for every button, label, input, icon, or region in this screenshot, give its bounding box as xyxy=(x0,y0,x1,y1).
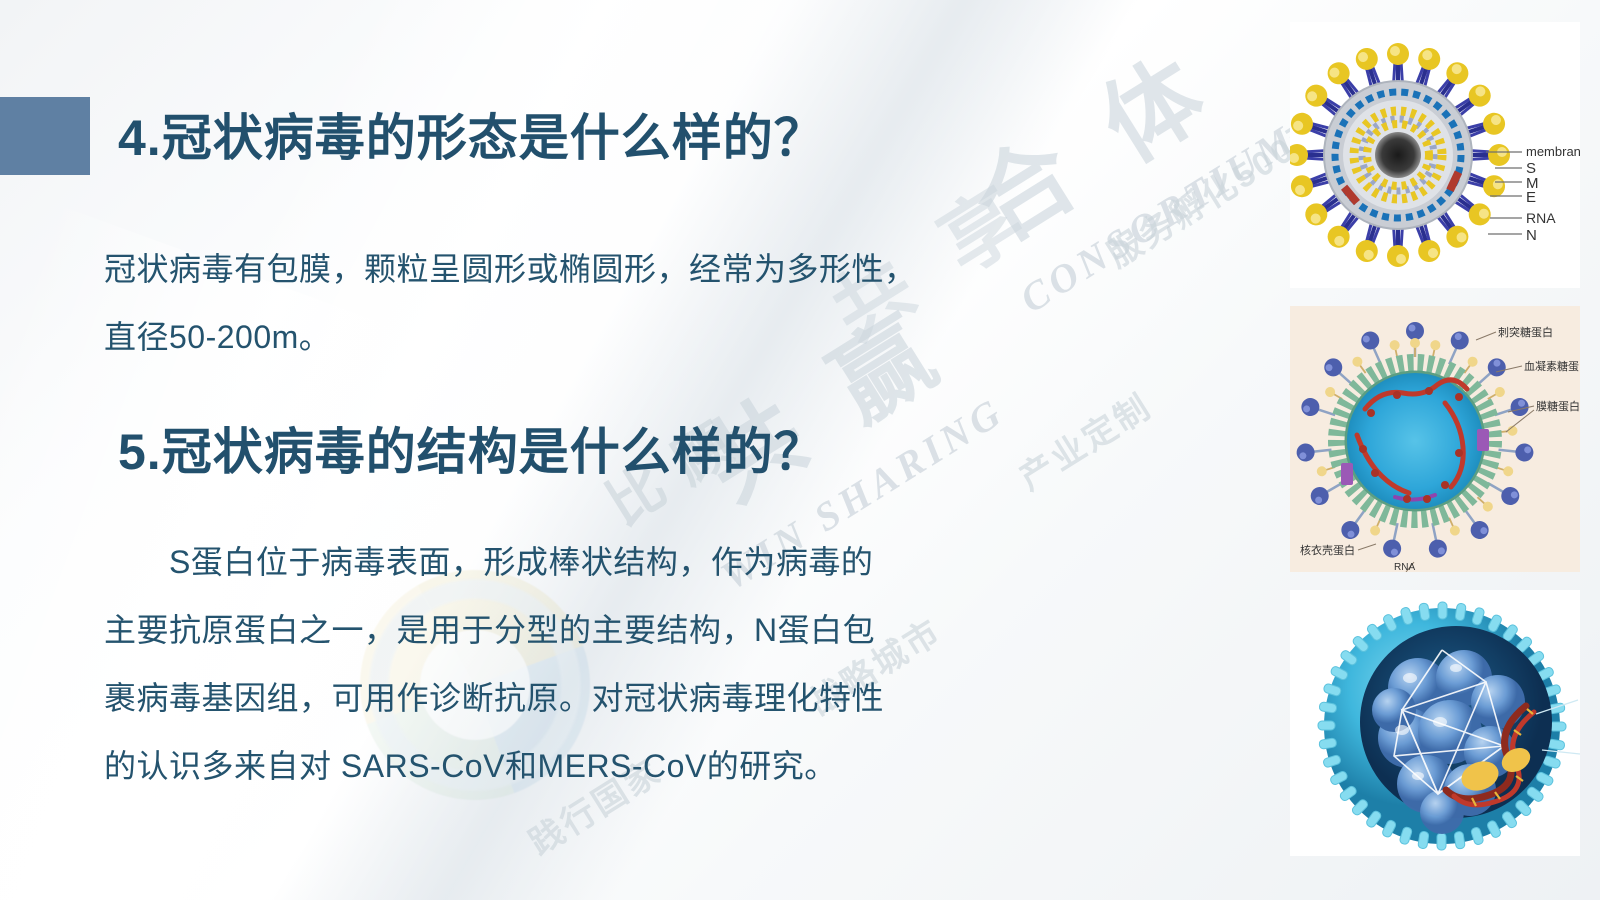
figure-label: RNA xyxy=(1526,210,1556,226)
figure-column: membrane S M E RNA N xyxy=(1290,22,1580,856)
watermark-text: 合 体 xyxy=(943,11,1238,267)
figure-label: membrane xyxy=(1526,144,1580,159)
figure-label: RNA xyxy=(1394,562,1415,572)
page-title-section-4: 4.冠状病毒的形态是什么样的？ xyxy=(118,98,825,170)
figure-label: E xyxy=(1526,189,1536,206)
paragraph-morphology: 冠状病毒有包膜，颗粒呈圆形或椭圆形，经常为多形性， 直径50-200m。 xyxy=(104,235,917,371)
figure-label: N xyxy=(1526,227,1537,244)
figure-coronavirus-cutaway: membrane S M E RNA N xyxy=(1290,22,1580,288)
figure-label: 膜糖蛋白 xyxy=(1536,399,1580,413)
figure-label: 刺突糖蛋白 xyxy=(1498,325,1553,339)
figure-virus-nucleocapsid xyxy=(1290,590,1580,856)
slide-canvas: 合 体 共 赢 共 享 CONSORTIUM WIN SHARING 服务孵化5… xyxy=(0,0,1600,900)
page-title-section-5: 5.冠状病毒的结构是什么样的？ xyxy=(118,412,825,484)
figure-label: 核衣壳蛋白 xyxy=(1300,543,1355,557)
heading-accent-block xyxy=(0,97,90,175)
figure-coronavirus-envelope: 刺突糖蛋白 血凝素糖蛋白 膜糖蛋白 核衣壳蛋白 RNA xyxy=(1290,306,1580,572)
coronavirus-envelope-icon: 刺突糖蛋白 血凝素糖蛋白 膜糖蛋白 核衣壳蛋白 RNA xyxy=(1290,306,1580,572)
virus-nucleocapsid-icon xyxy=(1290,590,1580,856)
paragraph-structure: S蛋白位于病毒表面，形成棒状结构，作为病毒的 主要抗原蛋白之一，是用于分型的主要… xyxy=(104,528,884,800)
coronavirus-cutaway-icon: membrane S M E RNA N xyxy=(1290,22,1580,288)
watermark-text: 产业定制 xyxy=(1008,380,1159,500)
watermark-text: CONSORTIUM xyxy=(1012,115,1305,323)
figure-label: 血凝素糖蛋白 xyxy=(1524,359,1580,373)
